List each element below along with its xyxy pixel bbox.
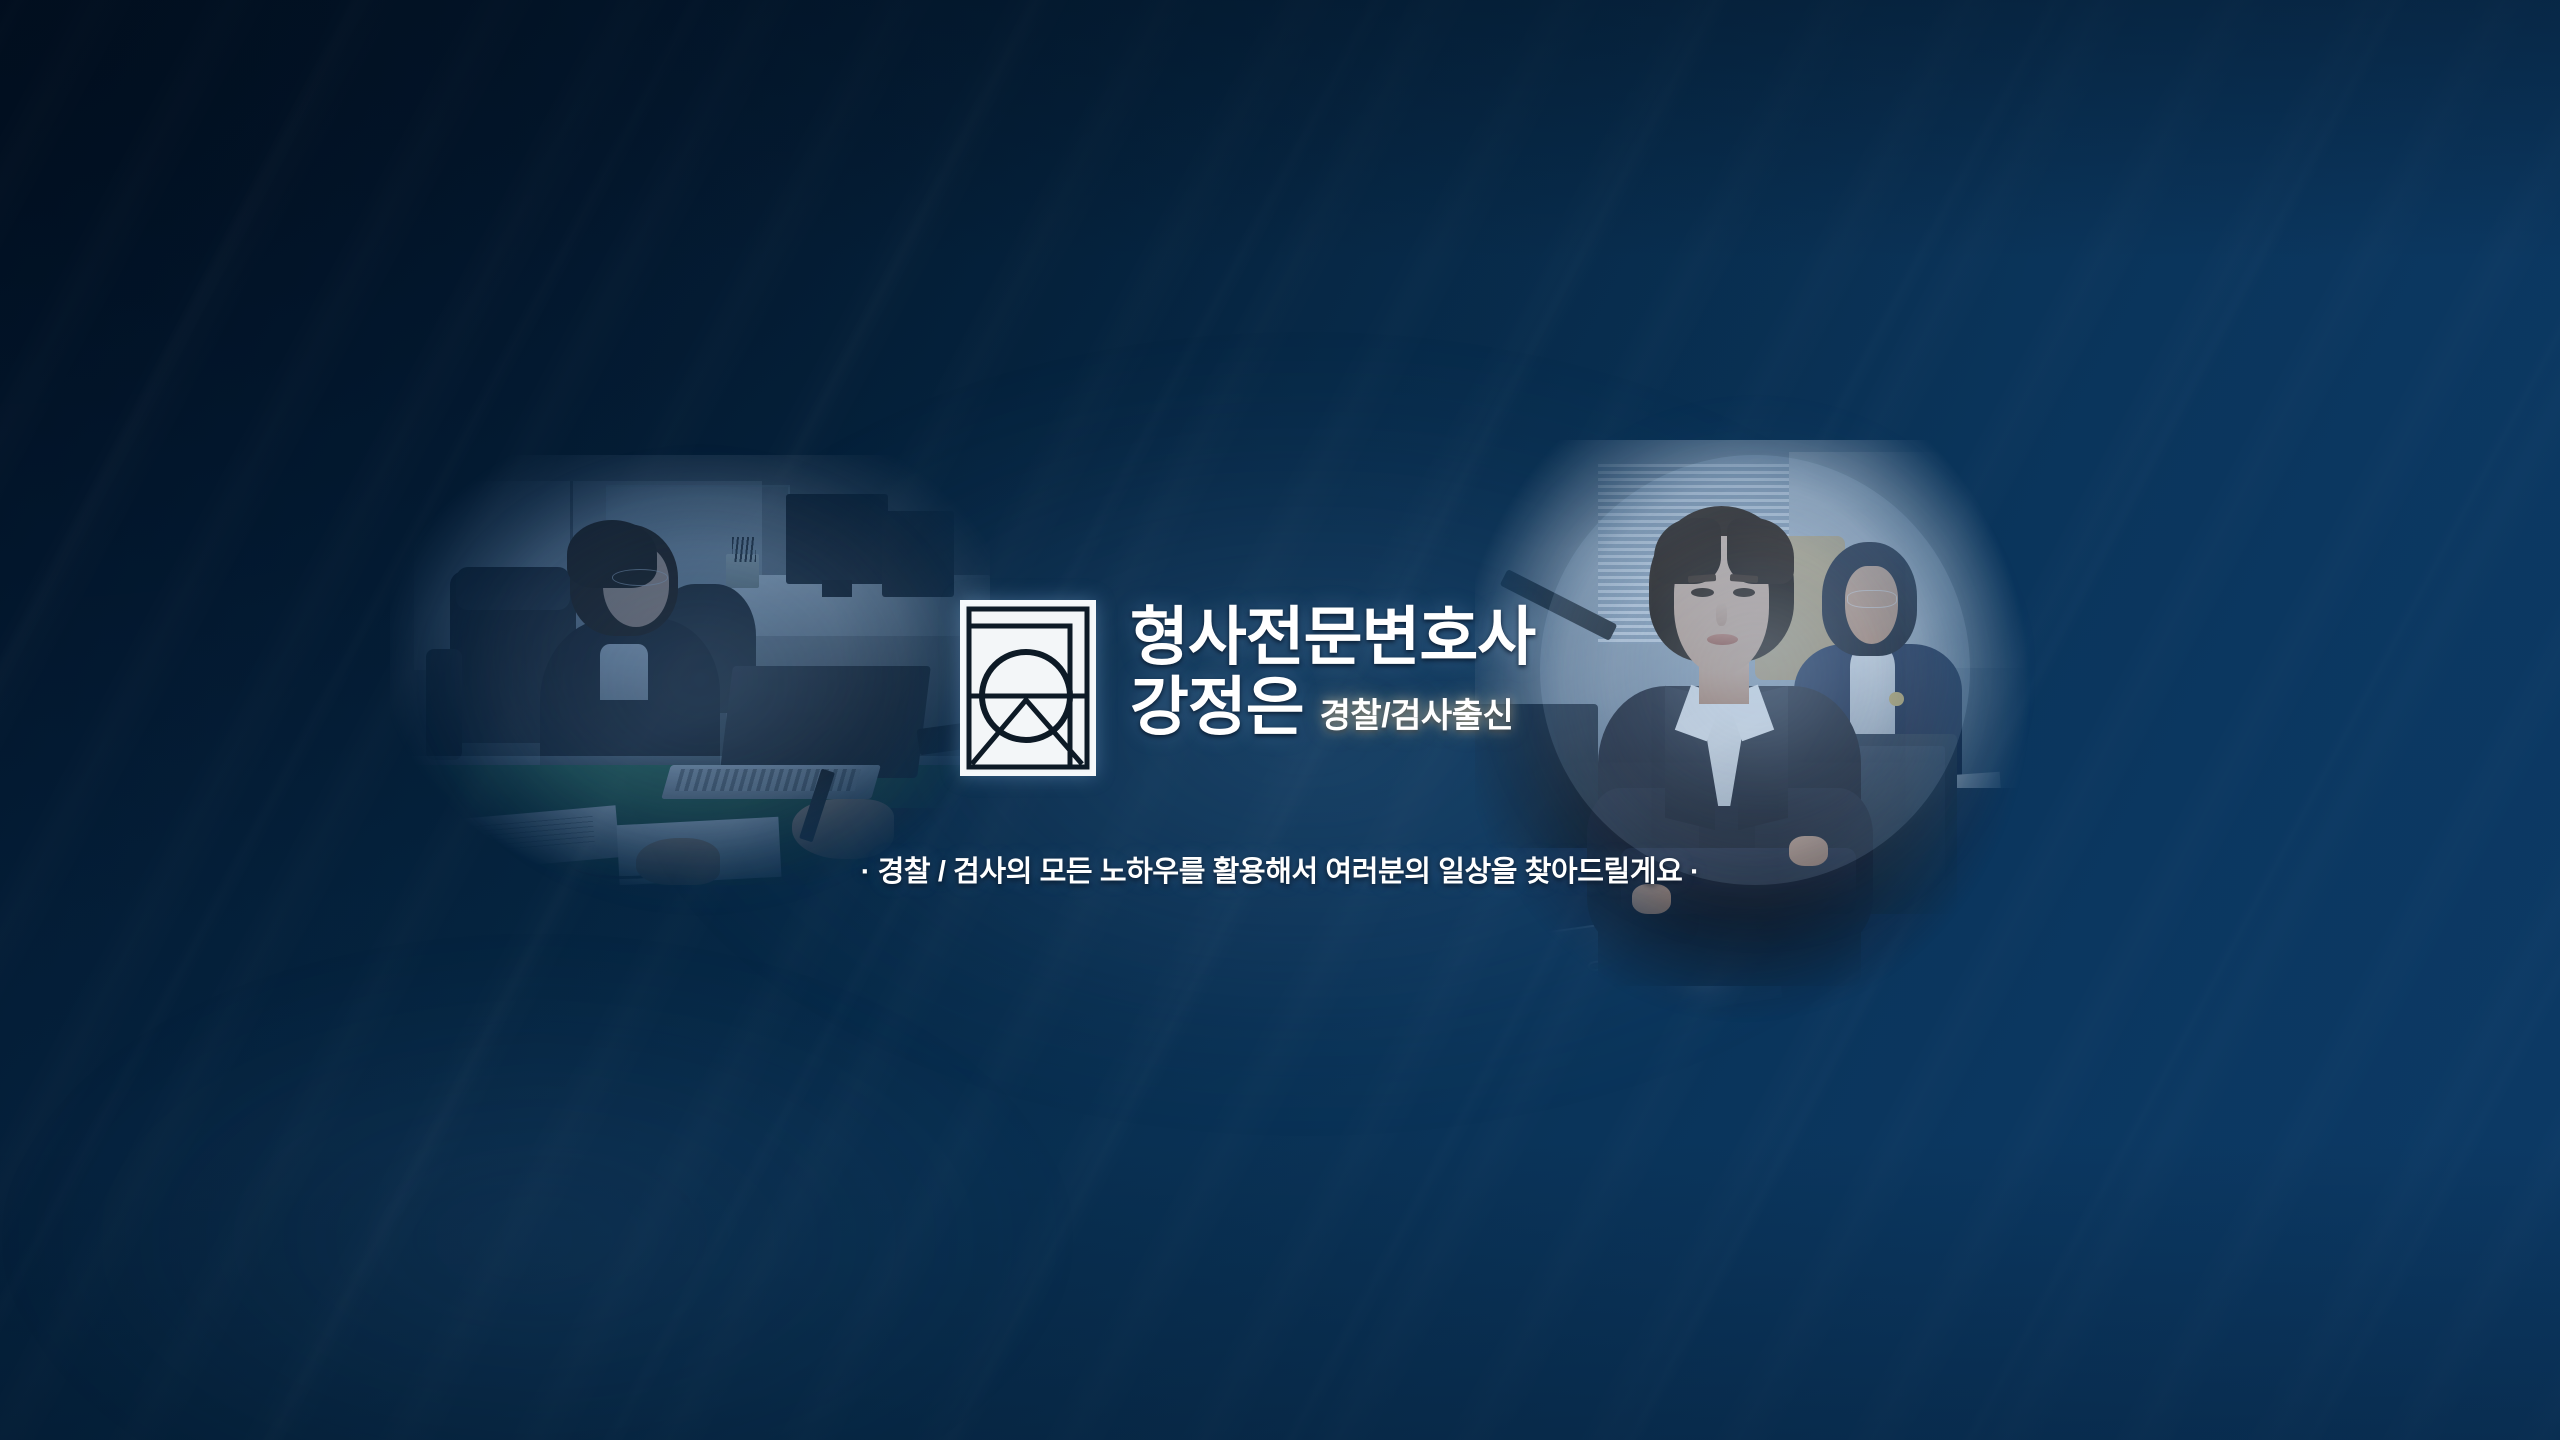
- hero-banner: 강 정 은: [0, 0, 2560, 1440]
- attorney-name: 강정은: [1130, 674, 1304, 742]
- brand-title-line1: 형사전문변호사: [1130, 604, 1535, 672]
- attorney-credential: 경찰/검사출신: [1320, 698, 1514, 741]
- brand-lockup: 형사전문변호사 강정은 경찰/검사출신: [960, 600, 1535, 776]
- brand-title-line2: 강정은 경찰/검사출신: [1130, 674, 1535, 742]
- law-firm-emblem-icon: [960, 600, 1096, 776]
- office-consultation-photo: [390, 455, 990, 885]
- brand-title-column: 형사전문변호사 강정은 경찰/검사출신: [1130, 600, 1535, 742]
- hero-tagline: · 경찰 / 검사의 모든 노하우를 활용해서 여러분의 일상을 찾아드릴게요 …: [0, 848, 2560, 890]
- attorney-portrait-photo: 강 정 은: [1475, 440, 2035, 1040]
